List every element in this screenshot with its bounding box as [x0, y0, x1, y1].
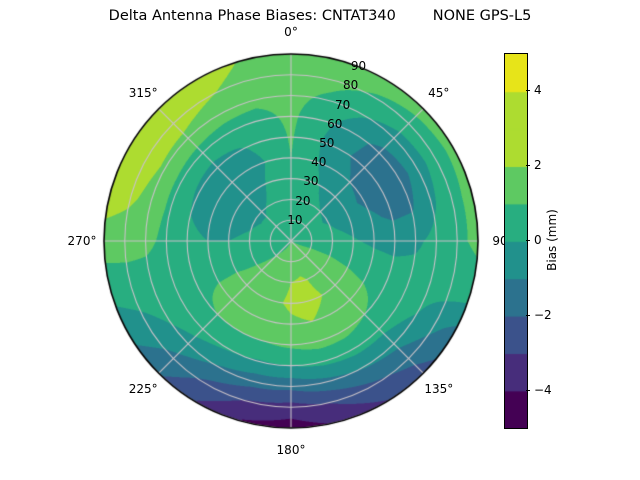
colorbar-tick-label: −2	[534, 308, 552, 322]
colorbar-tick-label: 0	[534, 233, 542, 247]
radial-label-80: 80	[343, 78, 358, 92]
colorbar-axis-label: Bias (mm)	[545, 209, 559, 271]
colorbar-tick-mark	[526, 240, 530, 241]
colorbar-tick-label: −4	[534, 383, 552, 397]
polar-contour-figure: Delta Antenna Phase Biases: CNTAT340 NON…	[0, 0, 640, 480]
angular-label-225: 225°	[129, 382, 158, 396]
angular-label-270: 270°	[68, 234, 97, 248]
radial-label-30: 30	[303, 174, 318, 188]
colorbar-gradient	[504, 53, 528, 429]
colorbar-tick-mark	[526, 315, 530, 316]
angular-label-180: 180°	[277, 443, 306, 457]
angular-label-0: 0°	[284, 25, 298, 39]
colorbar-tick-label: 4	[534, 83, 542, 97]
colorbar-tick-mark	[526, 390, 530, 391]
colorbar-tick-label: 2	[534, 158, 542, 172]
radial-label-10: 10	[287, 213, 302, 227]
colorbar-tick-mark	[526, 90, 530, 91]
angular-label-45: 45°	[428, 86, 449, 100]
colorbar-tick-mark	[526, 165, 530, 166]
colorbar: −4−2024	[504, 53, 526, 427]
radial-label-60: 60	[327, 117, 342, 131]
radial-label-70: 70	[335, 98, 350, 112]
angular-label-135: 135°	[424, 382, 453, 396]
radial-label-20: 20	[295, 194, 310, 208]
radial-label-50: 50	[319, 136, 334, 150]
radial-label-40: 40	[311, 155, 326, 169]
angular-label-315: 315°	[129, 86, 158, 100]
radial-label-90: 90	[351, 59, 366, 73]
